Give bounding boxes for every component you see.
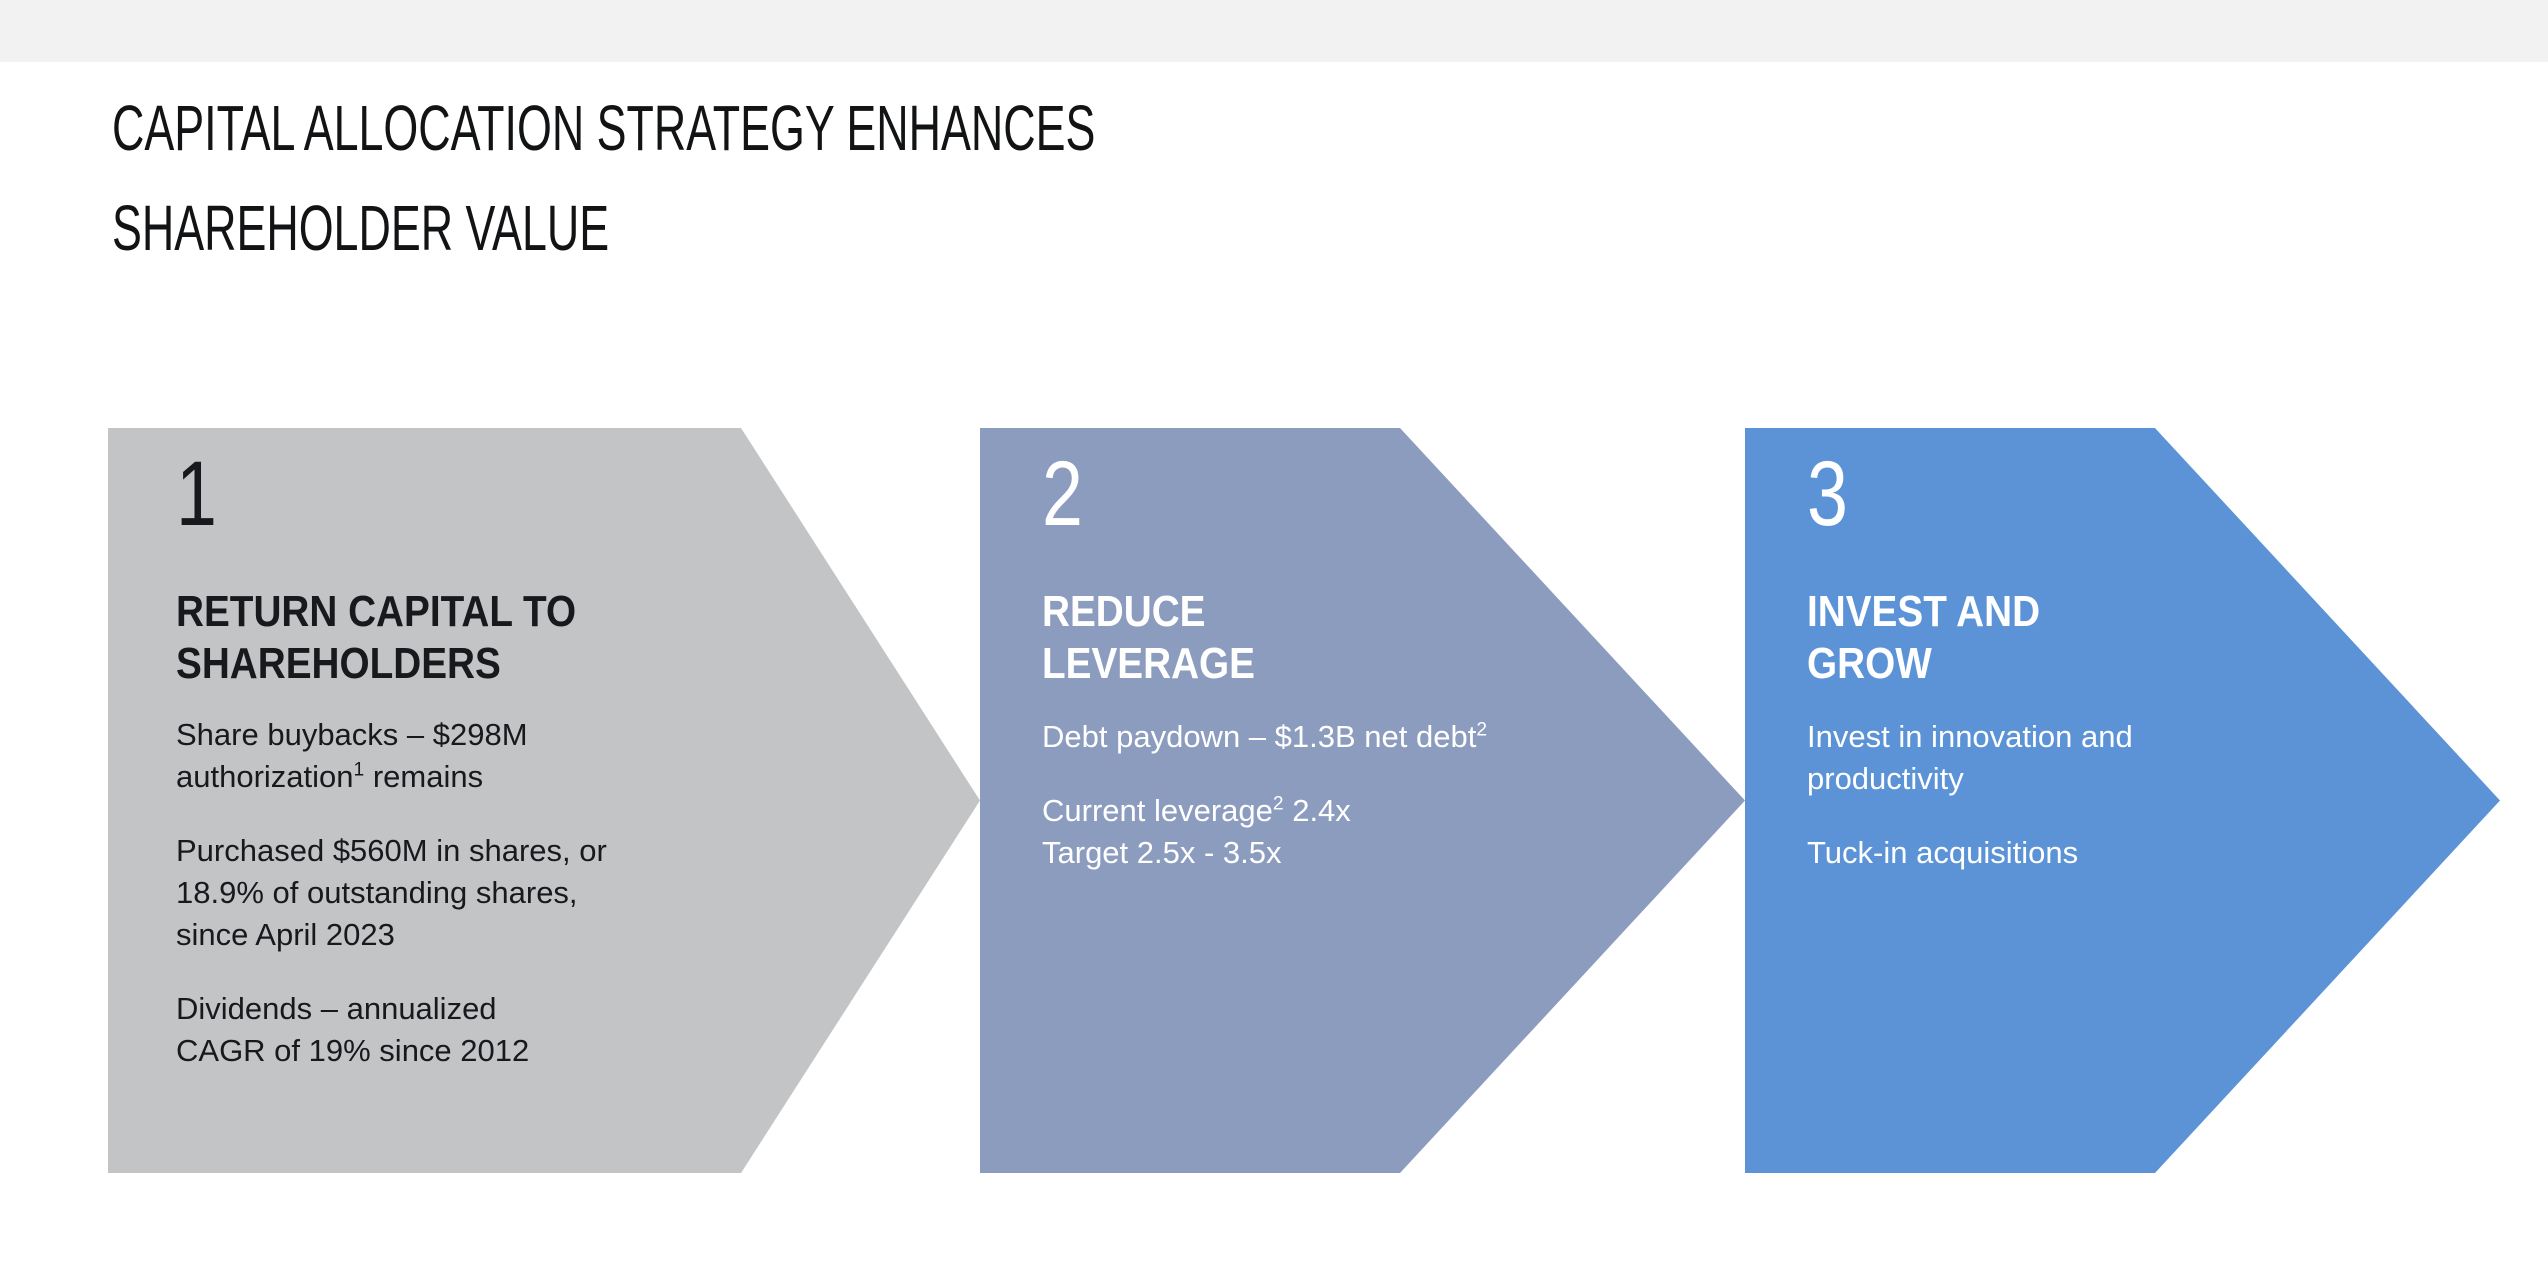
capital-allocation-chevron-band: 1 RETURN CAPITAL TO SHAREHOLDERS Share b… (0, 0, 2548, 1272)
step-2-bullet-list: Debt paydown – $1.3B net debt2 Current l… (1042, 716, 1562, 874)
footnote-marker: 2 (1476, 720, 1487, 741)
footnote-marker: 1 (354, 760, 365, 781)
chevron-step-3[interactable]: 3 INVEST AND GROW Invest in innovation a… (1745, 428, 2500, 1173)
step-heading-1: RETURN CAPITAL TO SHAREHOLDERS (176, 586, 669, 690)
list-item: Tuck-in acquisitions (1807, 832, 2327, 874)
list-item: Invest in innovation and productivity (1807, 716, 2327, 800)
list-item: Share buybacks – $298M authorization1 re… (176, 714, 696, 798)
step-number-3: 3 (1807, 448, 1848, 540)
bullet-text-tail: remains (364, 759, 483, 794)
bullet-text: Current leverage (1042, 793, 1273, 828)
step-1-bullet-list: Share buybacks – $298M authorization1 re… (176, 714, 696, 1072)
chevron-step-2-content: 2 REDUCE LEVERAGE Debt paydown – $1.3B n… (1042, 428, 1642, 1173)
bullet-text: Invest in innovation and productivity (1807, 719, 2133, 796)
step-heading-3: INVEST AND GROW (1807, 586, 2300, 690)
list-item: Current leverage2 2.4x Target 2.5x - 3.5… (1042, 790, 1562, 874)
list-item: Debt paydown – $1.3B net debt2 (1042, 716, 1562, 758)
step-heading-2: REDUCE LEVERAGE (1042, 586, 1535, 690)
bullet-text: Purchased $560M in shares, or 18.9% of o… (176, 833, 607, 952)
step-number-2: 2 (1042, 448, 1083, 540)
list-item: Dividends – annualized CAGR of 19% since… (176, 988, 696, 1072)
bullet-text: Tuck-in acquisitions (1807, 835, 2078, 870)
list-item: Purchased $560M in shares, or 18.9% of o… (176, 830, 696, 956)
step-number-1: 1 (176, 448, 217, 540)
bullet-text: Debt paydown – $1.3B net debt (1042, 719, 1476, 754)
chevron-step-3-content: 3 INVEST AND GROW Invest in innovation a… (1807, 428, 2407, 1173)
step-3-bullet-list: Invest in innovation and productivity Tu… (1807, 716, 2327, 874)
chevron-step-1[interactable]: 1 RETURN CAPITAL TO SHAREHOLDERS Share b… (108, 428, 980, 1173)
footnote-marker: 2 (1273, 794, 1284, 815)
chevron-step-1-content: 1 RETURN CAPITAL TO SHAREHOLDERS Share b… (176, 428, 776, 1173)
bullet-text: Dividends – annualized CAGR of 19% since… (176, 991, 529, 1068)
chevron-step-2[interactable]: 2 REDUCE LEVERAGE Debt paydown – $1.3B n… (980, 428, 1745, 1173)
